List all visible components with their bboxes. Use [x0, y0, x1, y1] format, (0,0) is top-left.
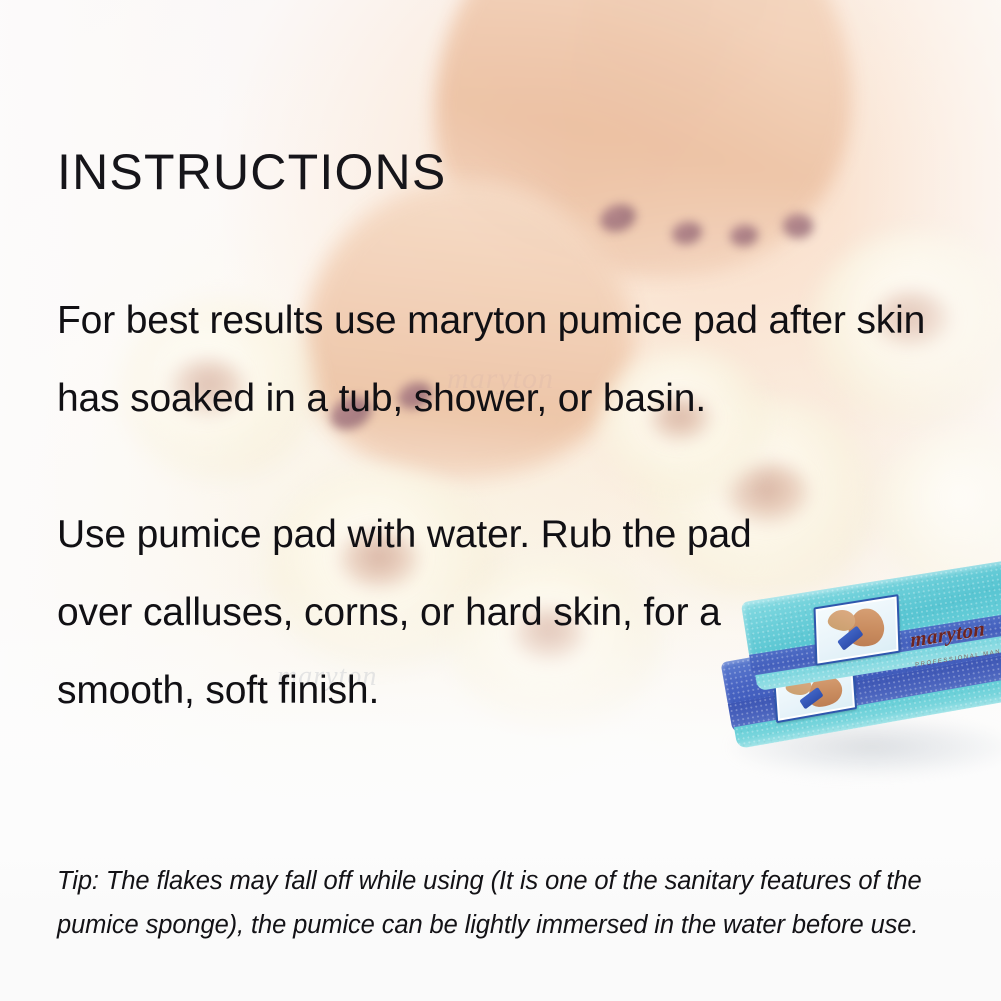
instruction-paragraph-2: Use pumice pad with water. Rub the pad o…	[57, 496, 837, 730]
tip-note: Tip: The flakes may fall off while using…	[57, 859, 937, 947]
instructions-image: maryton maryton	[0, 0, 1001, 1001]
page-title: INSTRUCTIONS	[57, 146, 446, 199]
instructions-content: INSTRUCTIONS For best results use maryto…	[0, 0, 1001, 1001]
instruction-paragraph-1: For best results use maryton pumice pad …	[57, 282, 987, 438]
